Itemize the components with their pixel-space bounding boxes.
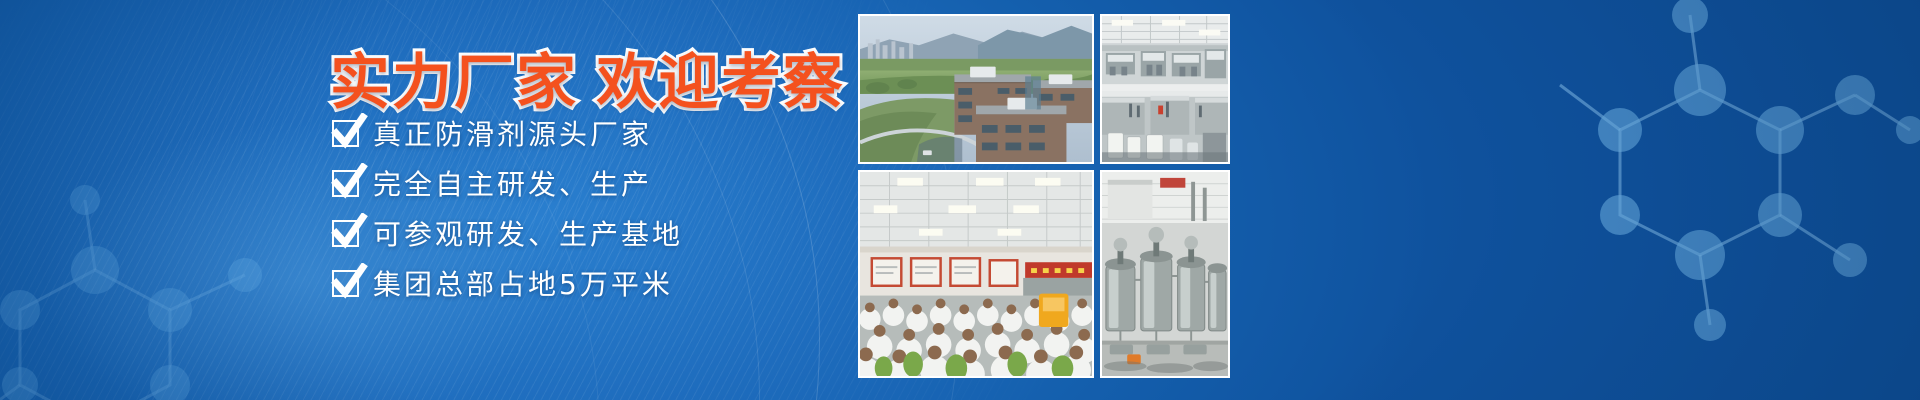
list-item-label: 可参观研发、生产基地 <box>373 213 683 253</box>
list-item: 完全自主研发、生产 <box>332 164 683 202</box>
list-item: 集团总部占地5万平米 <box>332 264 683 302</box>
staff-assembly-photo <box>858 170 1094 378</box>
checkbox-checked-icon <box>332 120 359 147</box>
feature-list: 真正防滑剂源头厂家 完全自主研发、生产 可参观研发、生产基地 <box>332 114 683 302</box>
banner-content: 实力厂家 欢迎考察 真正防滑剂源头厂家 完全自主研发、生产 <box>0 0 860 400</box>
list-item: 可参观研发、生产基地 <box>332 214 683 252</box>
headline-title: 实力厂家 欢迎考察 <box>330 34 845 121</box>
molecule-icon <box>1550 0 1920 360</box>
production-equipment-photo <box>1100 170 1230 378</box>
aerial-campus-photo <box>858 14 1094 164</box>
photo-gallery <box>858 14 1230 386</box>
checkbox-checked-icon <box>332 270 359 297</box>
checkbox-checked-icon <box>332 220 359 247</box>
checkbox-checked-icon <box>332 170 359 197</box>
list-item-label: 完全自主研发、生产 <box>373 163 652 203</box>
laboratory-photo <box>1100 14 1230 164</box>
promo-banner: 实力厂家 欢迎考察 真正防滑剂源头厂家 完全自主研发、生产 <box>0 0 1920 400</box>
list-item-label: 真正防滑剂源头厂家 <box>373 113 652 153</box>
list-item-label: 集团总部占地5万平米 <box>373 263 673 303</box>
list-item: 真正防滑剂源头厂家 <box>332 114 683 152</box>
